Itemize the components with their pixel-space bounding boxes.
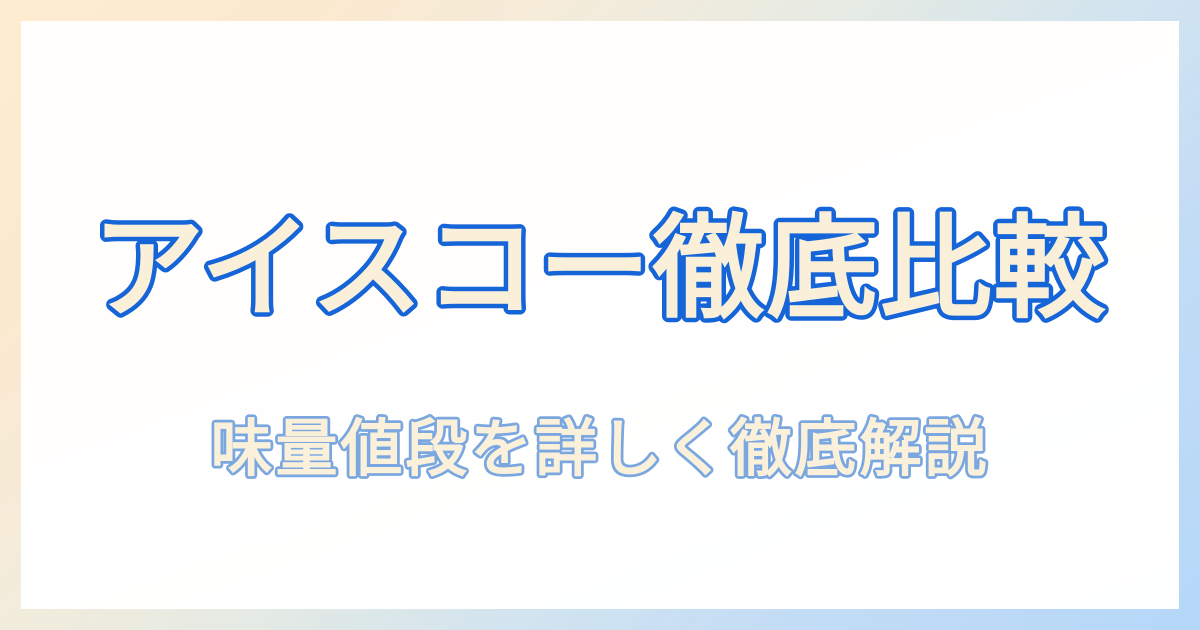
subtitle-fill-text: 味量値段を詳しく徹底解説 (211, 413, 989, 485)
subtitle-svg: 味量値段を詳しく徹底解説 味量値段を詳しく徹底解説 (21, 399, 1179, 499)
banner-card: アイスコー徹底比較 アイスコー徹底比較 味量値段を詳しく徹底解説 味量値段を詳し… (21, 21, 1179, 609)
banner-subtitle: 味量値段を詳しく徹底解説 味量値段を詳しく徹底解説 (21, 399, 1179, 499)
title-svg: アイスコー徹底比較 アイスコー徹底比較 (21, 189, 1179, 349)
banner-title: アイスコー徹底比較 アイスコー徹底比較 (21, 189, 1179, 349)
title-fill-text: アイスコー徹底比較 (92, 204, 1107, 334)
ogp-banner: アイスコー徹底比較 アイスコー徹底比較 味量値段を詳しく徹底解説 味量値段を詳し… (0, 0, 1200, 630)
